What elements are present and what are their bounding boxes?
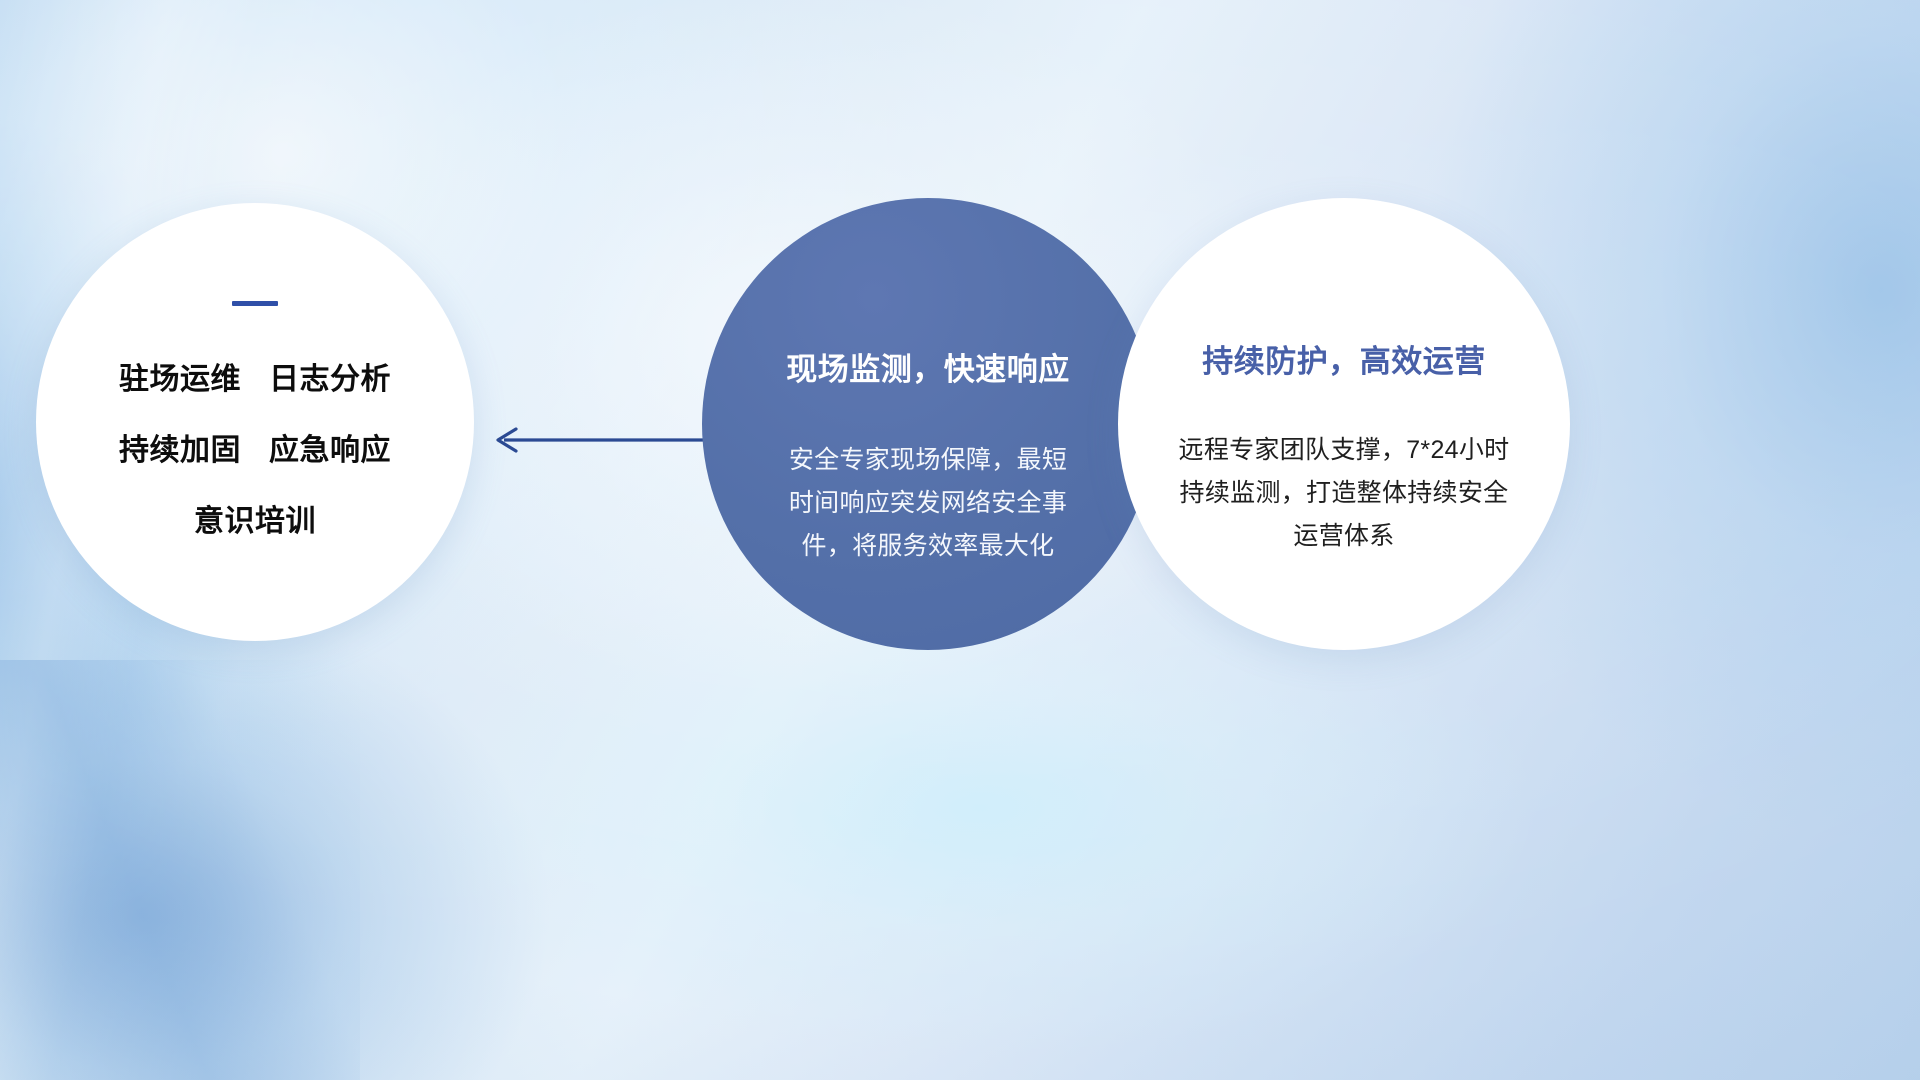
card-title: 现场监测，快速响应 [786,344,1070,389]
list-item: 意识培训 [194,496,316,540]
tag-emergency-response: 应急响应 [269,434,391,467]
slide-canvas: 驻场运维日志分析 持续加固应急响应 意识培训 现场监测，快速响应 安全专家现场保… [0,0,1920,1080]
tag-awareness-training: 意识培训 [194,505,316,538]
tag-continuous-hardening: 持续加固 [119,434,241,467]
onsite-monitoring-circle[interactable]: 现场监测，快速响应 安全专家现场保障，最短时间响应突发网络安全事件，将服务效率最… [702,198,1154,650]
title-divider-dash [232,301,278,306]
left-pointing-arrow-icon [480,408,720,472]
list-item: 持续加固应急响应 [119,425,391,469]
capability-tag-list: 驻场运维日志分析 持续加固应急响应 意识培训 [119,354,391,540]
tag-log-analysis: 日志分析 [269,363,391,396]
continuous-protection-circle[interactable]: 持续防护，高效运营 远程专家团队支撑，7*24小时持续监测，打造整体持续安全运营… [1118,198,1570,650]
card-body-text: 远程专家团队支撑，7*24小时持续监测，打造整体持续安全运营体系 [1168,429,1520,558]
capability-tags-circle[interactable]: 驻场运维日志分析 持续加固应急响应 意识培训 [36,203,474,641]
list-item: 驻场运维日志分析 [119,354,391,398]
card-title: 持续防护，高效运营 [1202,336,1486,381]
card-body-text: 安全专家现场保障，最短时间响应突发网络安全事件，将服务效率最大化 [778,439,1078,568]
tag-onsite-ops: 驻场运维 [119,363,241,396]
